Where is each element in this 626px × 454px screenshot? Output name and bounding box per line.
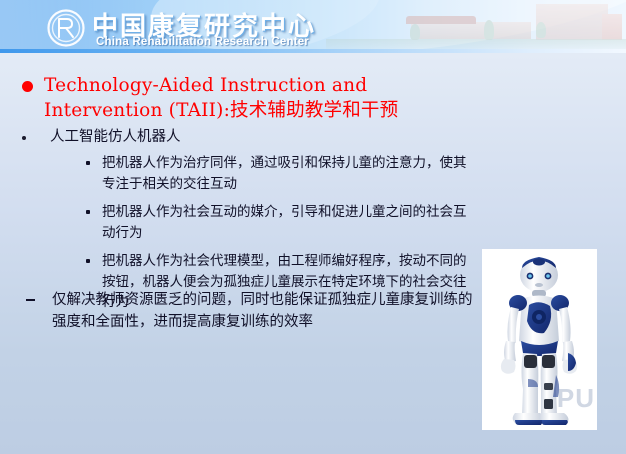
crrc-logo-icon (46, 8, 86, 48)
level2-bullet-icon (86, 210, 90, 214)
list-item: 把机器人作为治疗同伴，通过吸引和保持儿童的注意力，使其专注于相关的交往互动 (86, 153, 476, 194)
level2-bullet-icon (86, 161, 90, 165)
level1-text: 人工智能仿人机器人 (50, 127, 181, 148)
tree-icon (410, 24, 420, 40)
dash-text: 仅解决教师资源匮乏的问题，同时也能保证孤独症儿童康复训练的强度和全面性，进而提高… (52, 289, 476, 333)
slide-title-row: Technology-Aided Instruction and Interve… (22, 73, 522, 123)
dash-bullet-row: 仅解决教师资源匮乏的问题，同时也能保证孤独症儿童康复训练的强度和全面性，进而提高… (26, 289, 476, 333)
building-lowrise-icon (411, 22, 531, 39)
level2-text: 把机器人作为治疗同伴，通过吸引和保持儿童的注意力，使其专注于相关的交往互动 (102, 153, 476, 194)
slide-title: Technology-Aided Instruction and Interve… (44, 73, 398, 123)
list-item: 把机器人作为社会互动的媒介，引导和促进儿童之间的社会互动行为 (86, 202, 476, 243)
level1-bullet-row: 人工智能仿人机器人 (22, 127, 522, 148)
building-tower-icon (536, 4, 608, 40)
building-roof-icon (406, 16, 476, 24)
tree-icon (484, 20, 494, 40)
level2-text: 把机器人作为社会互动的媒介，引导和促进儿童之间的社会互动行为 (102, 202, 476, 243)
slide-header-banner: 中国康复研究中心 China Rehabilitation Research C… (0, 0, 626, 53)
slide-content: Technology-Aided Instruction and Interve… (0, 53, 626, 454)
header-building-photo (326, 0, 626, 53)
presentation-slide: 中国康复研究中心 China Rehabilitation Research C… (0, 0, 626, 454)
dash-bullet-icon (26, 299, 35, 301)
robot-image-frame: PU (482, 249, 597, 430)
nao-humanoid-robot-photo (482, 249, 597, 430)
header-title-en: China Rehabilitation Research Center (96, 36, 309, 48)
title-bullet-icon (22, 81, 33, 92)
tree-icon (536, 22, 546, 38)
level1-bullet-icon (22, 136, 26, 140)
building-tower-secondary-icon (602, 14, 622, 40)
level2-bullet-icon (86, 259, 90, 263)
